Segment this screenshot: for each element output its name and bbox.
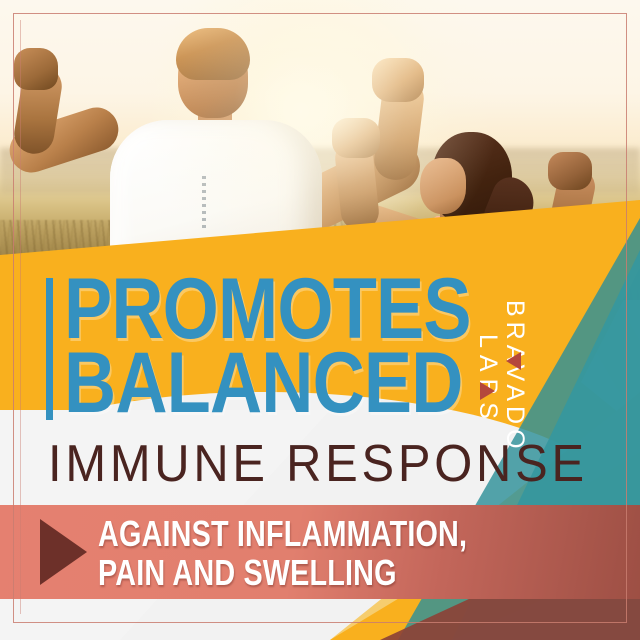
- benefit-line-2: PAIN AND SWELLING: [98, 553, 474, 592]
- benefit-line-1: AGAINST INFLAMMATION,: [98, 514, 474, 553]
- brand-name-bottom: LABS: [474, 334, 501, 450]
- brand-name-top-text: BRAVADO: [501, 300, 529, 454]
- product-poster: PROMOTES BALANCED IMMUNE RESPONSE AGAINS…: [0, 0, 640, 640]
- brand-name-bottom-text: LABS: [474, 334, 502, 426]
- brand-name-top: BRAVADO: [501, 300, 528, 450]
- benefit-banner: AGAINST INFLAMMATION, PAIN AND SWELLING: [0, 505, 640, 599]
- benefit-banner-text: AGAINST INFLAMMATION, PAIN AND SWELLING: [98, 514, 474, 592]
- play-triangle-icon: [40, 519, 87, 585]
- brand-logo[interactable]: BRAVADO LABS: [378, 300, 528, 450]
- headline-accent-bar: [46, 278, 53, 420]
- logo-triangle-down-icon: [506, 352, 521, 370]
- logo-triangle-up-icon: [480, 382, 495, 400]
